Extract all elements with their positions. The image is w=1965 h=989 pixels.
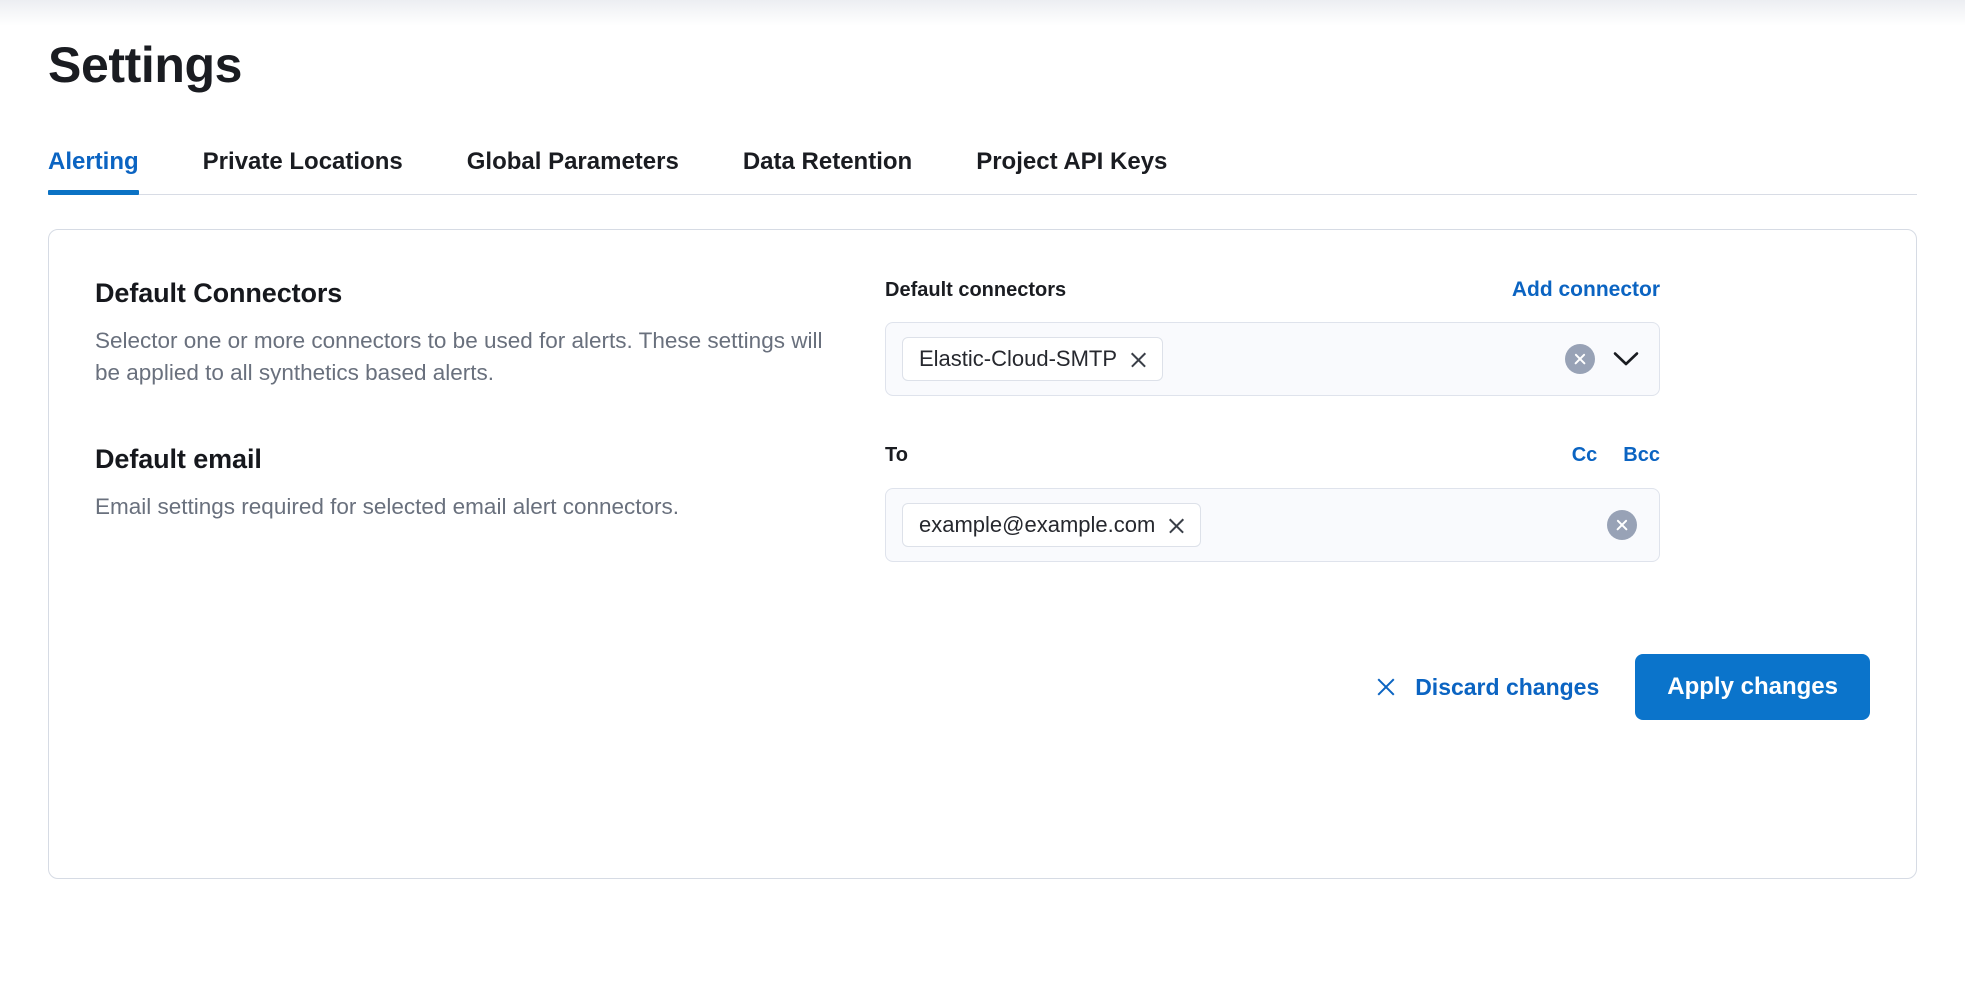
- default-email-field-column: To Cc Bcc example@example.com: [885, 444, 1660, 562]
- clear-connectors-icon[interactable]: [1565, 344, 1595, 374]
- remove-connector-icon[interactable]: [1129, 350, 1148, 369]
- default-connectors-field-header: Default connectors Add connector: [885, 278, 1660, 308]
- discard-changes-label: Discard changes: [1415, 674, 1599, 701]
- connector-pill-label: Elastic-Cloud-SMTP: [919, 345, 1117, 373]
- clear-recipients-icon[interactable]: [1607, 510, 1637, 540]
- alerting-settings-card: Default Connectors Selector one or more …: [48, 229, 1917, 879]
- default-connectors-label: Default connectors: [885, 279, 1066, 302]
- recipient-pill[interactable]: example@example.com: [902, 503, 1201, 547]
- settings-page: Settings Alerting Private Locations Glob…: [0, 0, 1965, 989]
- tab-private-locations[interactable]: Private Locations: [203, 148, 403, 194]
- tab-data-retention[interactable]: Data Retention: [743, 148, 912, 194]
- close-x-icon: [1375, 676, 1397, 698]
- default-connectors-description: Selector one or more connectors to be us…: [95, 325, 845, 389]
- card-footer-actions: Discard changes Apply changes: [95, 654, 1870, 720]
- default-email-title: Default email: [95, 444, 845, 475]
- email-cc-bcc-actions: Cc Bcc: [1572, 444, 1660, 467]
- connector-pill[interactable]: Elastic-Cloud-SMTP: [902, 337, 1163, 381]
- to-label: To: [885, 444, 908, 467]
- page-title: Settings: [48, 0, 1917, 95]
- to-recipients-combobox[interactable]: example@example.com: [885, 488, 1660, 562]
- add-connector-link[interactable]: Add connector: [1512, 278, 1660, 302]
- discard-changes-button[interactable]: Discard changes: [1369, 664, 1605, 711]
- cc-link[interactable]: Cc: [1572, 444, 1598, 467]
- recipient-pill-label: example@example.com: [919, 511, 1155, 539]
- default-email-section: Default email Email settings required fo…: [95, 444, 1870, 562]
- default-connectors-combobox[interactable]: Elastic-Cloud-SMTP: [885, 322, 1660, 396]
- default-connectors-field-column: Default connectors Add connector Elastic…: [885, 278, 1660, 396]
- chevron-down-icon[interactable]: [1611, 344, 1641, 374]
- default-connectors-title: Default Connectors: [95, 278, 845, 309]
- bcc-link[interactable]: Bcc: [1623, 444, 1660, 467]
- default-connectors-description-column: Default Connectors Selector one or more …: [95, 278, 885, 389]
- tab-project-api-keys[interactable]: Project API Keys: [976, 148, 1167, 194]
- default-email-description: Email settings required for selected ema…: [95, 491, 845, 523]
- remove-recipient-icon[interactable]: [1167, 516, 1186, 535]
- default-connectors-section: Default Connectors Selector one or more …: [95, 278, 1870, 396]
- apply-changes-button[interactable]: Apply changes: [1635, 654, 1870, 720]
- tab-global-parameters[interactable]: Global Parameters: [467, 148, 679, 194]
- tab-alerting[interactable]: Alerting: [48, 148, 139, 194]
- default-email-description-column: Default email Email settings required fo…: [95, 444, 885, 523]
- default-email-field-header: To Cc Bcc: [885, 444, 1660, 474]
- default-connectors-actions: Add connector: [1512, 278, 1660, 302]
- settings-tabs: Alerting Private Locations Global Parame…: [48, 133, 1917, 195]
